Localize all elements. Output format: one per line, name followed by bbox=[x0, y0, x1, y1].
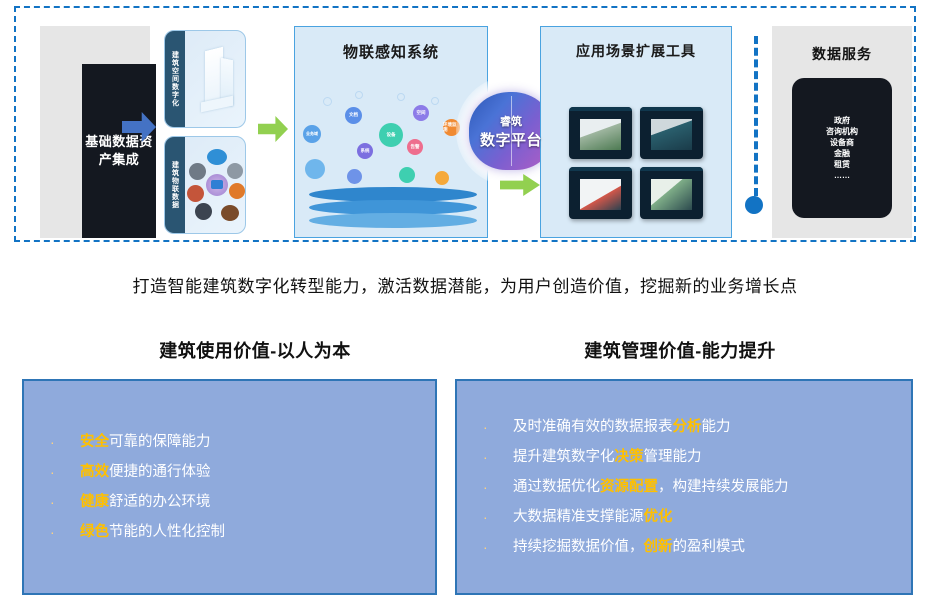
bullet-text: 提升建筑数字化决策管理能力 bbox=[513, 442, 911, 472]
thumbnail-building-exterior bbox=[569, 107, 632, 159]
bullet-text-rest: 可靠的保障能力 bbox=[109, 434, 211, 450]
dotted-connector-line bbox=[754, 36, 758, 196]
node-bubble-1 bbox=[305, 159, 325, 179]
panel-application-scenario-tools: 应用场景扩展工具 bbox=[540, 26, 732, 238]
bullet-text-pre: 提升建筑数字化 bbox=[513, 449, 615, 465]
bullet-text-rest: 便捷的通行体验 bbox=[109, 464, 211, 480]
bullet-highlight: 决策 bbox=[615, 449, 644, 465]
bullet-marker-icon: · bbox=[50, 457, 80, 487]
bullet-text-pre: 持续挖掘数据价值， bbox=[513, 539, 644, 555]
bullet-item: ·健康舒适的办公环境 bbox=[24, 487, 435, 517]
arrow-digital-to-iot-icon bbox=[258, 116, 288, 142]
bullet-marker-icon: · bbox=[483, 502, 513, 532]
node-space: 空间 bbox=[413, 105, 429, 121]
bullet-item: ·持续挖掘数据价值，创新的盈利模式 bbox=[457, 532, 911, 562]
node-bubble-2 bbox=[347, 169, 362, 184]
bullet-marker-icon: · bbox=[50, 487, 80, 517]
right-column-title: 建筑管理价值-能力提升 bbox=[490, 337, 870, 363]
bullet-marker-icon: · bbox=[483, 532, 513, 562]
bullet-item: ·绿色节能的人性化控制 bbox=[24, 517, 435, 547]
bullet-item: ·高效便捷的通行体验 bbox=[24, 457, 435, 487]
brain-label-line2: 数字平台 bbox=[480, 129, 542, 150]
connector-dot-icon bbox=[745, 196, 763, 214]
iot-cluster-icon bbox=[189, 147, 243, 223]
data-service-item: 租赁 bbox=[826, 159, 858, 170]
bullet-item: ·及时准确有效的数据报表分析能力 bbox=[457, 412, 911, 442]
bullet-text-pre: 通过数据优化 bbox=[513, 479, 600, 495]
bullet-text-rest: 节能的人性化控制 bbox=[109, 524, 225, 540]
bullet-text: 及时准确有效的数据报表分析能力 bbox=[513, 412, 911, 442]
bullet-marker-icon: · bbox=[483, 472, 513, 502]
bullet-item: ·大数据精准支撑能源优化 bbox=[457, 502, 911, 532]
tagline: 打造智能建筑数字化转型能力，激活数据潜能，为用户创造价值，挖掘新的业务增长点 bbox=[0, 272, 930, 297]
thumbnail-campus-3d bbox=[640, 167, 703, 219]
data-service-list: 政府 咨询机构 设备商 金融 租赁 …… bbox=[826, 115, 858, 181]
data-service-item: 金融 bbox=[826, 148, 858, 159]
bullet-text-rest: 舒适的办公环境 bbox=[109, 494, 211, 510]
bullet-text: 通过数据优化资源配置，构建持续发展能力 bbox=[513, 472, 911, 502]
data-service-item: 设备商 bbox=[826, 137, 858, 148]
thumbnail-building-interior bbox=[640, 107, 703, 159]
data-service-title: 数据服务 bbox=[772, 44, 912, 64]
bullet-text: 大数据精准支撑能源优化 bbox=[513, 502, 911, 532]
right-value-box: ·及时准确有效的数据报表分析能力·提升建筑数字化决策管理能力·通过数据优化资源配… bbox=[455, 379, 913, 595]
bullet-highlight: 创新 bbox=[644, 539, 673, 555]
node-business-domain: 业务域 bbox=[303, 125, 321, 143]
node-alarm: 告警 bbox=[407, 139, 423, 155]
bullet-marker-icon: · bbox=[483, 442, 513, 472]
data-service-item: 咨询机构 bbox=[826, 126, 858, 137]
bullet-text-rest: 管理能力 bbox=[644, 449, 702, 465]
building-3d-icon bbox=[195, 45, 239, 113]
node-device: 设备 bbox=[379, 123, 403, 147]
left-bullet-list: ·安全可靠的保障能力·高效便捷的通行体验·健康舒适的办公环境·绿色节能的人性化控… bbox=[24, 381, 435, 593]
bullet-text: 安全可靠的保障能力 bbox=[80, 427, 435, 457]
node-document: 文档 bbox=[345, 107, 362, 124]
card-building-iot-data: 建筑物联数据 bbox=[164, 136, 246, 234]
card-iot-label: 建筑物联数据 bbox=[165, 137, 185, 233]
data-service-item: …… bbox=[826, 170, 858, 181]
bullet-text: 绿色节能的人性化控制 bbox=[80, 517, 435, 547]
data-service-card: 政府 咨询机构 设备商 金融 租赁 …… bbox=[792, 78, 892, 218]
data-lake-disc-icon bbox=[309, 187, 477, 235]
iot-network-graph: 设备 文档 空间 环境监测 告警 系统 业务域 bbox=[301, 85, 481, 185]
bullet-text-rest: ，构建持续发展能力 bbox=[658, 479, 789, 495]
bullet-item: ·通过数据优化资源配置，构建持续发展能力 bbox=[457, 472, 911, 502]
node-system: 系统 bbox=[357, 143, 373, 159]
bullet-text: 持续挖掘数据价值，创新的盈利模式 bbox=[513, 532, 911, 562]
app-thumbnail-grid bbox=[569, 107, 703, 219]
bullet-text-pre: 大数据精准支撑能源 bbox=[513, 509, 644, 525]
brain-label-line1: 睿筑 bbox=[500, 113, 522, 129]
bullet-text: 健康舒适的办公环境 bbox=[80, 487, 435, 517]
data-service-item: 政府 bbox=[826, 115, 858, 126]
node-bubble-4 bbox=[435, 171, 449, 185]
diagram-frame: 基础数据资产集成 建筑空间数字化 建筑物联数据 物联感知系统 设备 bbox=[14, 6, 916, 242]
bullet-highlight: 资源配置 bbox=[600, 479, 658, 495]
bullet-highlight: 安全 bbox=[80, 434, 109, 450]
panel-apps-title: 应用场景扩展工具 bbox=[541, 41, 731, 61]
stage-data-service: 数据服务 政府 咨询机构 设备商 金融 租赁 …… bbox=[772, 26, 912, 238]
bullet-highlight: 分析 bbox=[673, 419, 702, 435]
node-bubble-3 bbox=[399, 167, 415, 183]
bullet-text: 高效便捷的通行体验 bbox=[80, 457, 435, 487]
base-data-card: 基础数据资产集成 bbox=[82, 64, 156, 238]
bullet-text-rest: 的盈利模式 bbox=[673, 539, 746, 555]
left-column-title: 建筑使用价值-以人为本 bbox=[70, 337, 440, 363]
right-bullet-list: ·及时准确有效的数据报表分析能力·提升建筑数字化决策管理能力·通过数据优化资源配… bbox=[457, 381, 911, 593]
left-value-box: ·安全可靠的保障能力·高效便捷的通行体验·健康舒适的办公环境·绿色节能的人性化控… bbox=[22, 379, 437, 595]
bullet-text-rest: 能力 bbox=[702, 419, 731, 435]
bullet-item: ·安全可靠的保障能力 bbox=[24, 427, 435, 457]
bullet-marker-icon: · bbox=[483, 412, 513, 442]
thumbnail-map-heatmap bbox=[569, 167, 632, 219]
card-space-label: 建筑空间数字化 bbox=[165, 31, 185, 127]
bullet-highlight: 高效 bbox=[80, 464, 109, 480]
card-building-space-digitalization: 建筑空间数字化 bbox=[164, 30, 246, 128]
bullet-highlight: 优化 bbox=[644, 509, 673, 525]
bullet-marker-icon: · bbox=[50, 517, 80, 547]
bullet-item: ·提升建筑数字化决策管理能力 bbox=[457, 442, 911, 472]
panel-iot-title: 物联感知系统 bbox=[295, 41, 487, 62]
bullet-text-pre: 及时准确有效的数据报表 bbox=[513, 419, 673, 435]
bullet-highlight: 绿色 bbox=[80, 524, 109, 540]
bullet-marker-icon: · bbox=[50, 427, 80, 457]
bullet-highlight: 健康 bbox=[80, 494, 109, 510]
